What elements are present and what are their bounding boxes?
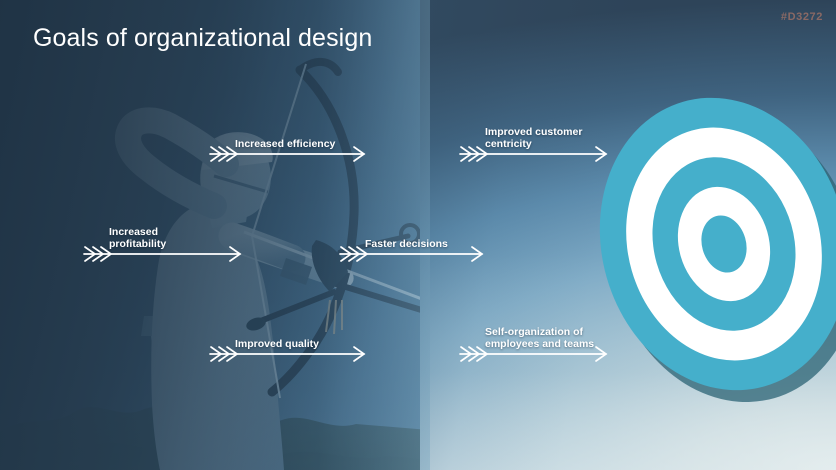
arrow-icon [458, 344, 608, 364]
arrow-icon [82, 244, 242, 264]
arrow-increased-efficiency[interactable]: Increased efficiency [208, 118, 366, 164]
arrow-icon [208, 144, 366, 164]
arrow-icon [208, 344, 366, 364]
arrow-icon [458, 144, 608, 164]
slide-root: Goals of organizational design #D3272 In… [0, 0, 836, 470]
slide-code-badge: #D3272 [781, 11, 823, 23]
arrow-improved-customer-centricity[interactable]: Improved customer centricity [458, 118, 608, 164]
arrow-improved-quality[interactable]: Improved quality [208, 318, 366, 364]
arrow-increased-profitability[interactable]: Increased profitability [82, 218, 242, 264]
arrow-self-organization[interactable]: Self-organization of employees and teams [458, 318, 608, 364]
arrow-faster-decisions[interactable]: Faster decisions [338, 218, 484, 264]
arrow-icon [338, 244, 484, 264]
page-title: Goals of organizational design [33, 24, 372, 53]
